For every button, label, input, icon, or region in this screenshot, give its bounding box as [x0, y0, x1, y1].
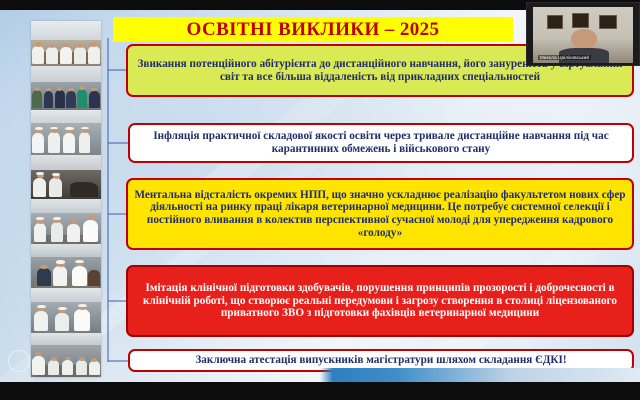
photo-meeting-table [31, 21, 101, 66]
photo-lab-work [31, 244, 101, 289]
slide-title-banner: ОСВІТНІ ВИКЛИКИ – 2025 [113, 17, 513, 42]
page-title: ОСВІТНІ ВИКЛИКИ – 2025 [187, 19, 440, 41]
participant-name-label: Микола Цвіліховський [538, 55, 591, 60]
slide-footer-band [0, 368, 640, 382]
wall-frame-icon [572, 13, 589, 29]
wall-frame-icon [599, 15, 617, 29]
challenge-box-5-text: Заключна атестація випускників магістрат… [195, 354, 566, 367]
challenge-box-2: Інфляція практичної складової якості осв… [128, 123, 634, 163]
challenge-box-4-text: Імітація клінічної підготовки здобувачів… [134, 282, 626, 320]
letterbox-bottom [0, 382, 640, 400]
photo-lab-bench [31, 199, 101, 244]
participant-head [571, 29, 597, 48]
photo-clinic-examination [31, 155, 101, 200]
wall-frame-icon [547, 15, 563, 30]
challenge-box-2-text: Інфляція практичної складової якості осв… [136, 130, 626, 155]
photo-consultation [31, 288, 101, 333]
photo-group-portrait [31, 66, 101, 111]
challenge-box-3-text: Ментальна відсталість окремих НПП, що зн… [134, 189, 626, 239]
challenge-box-3: Ментальна відсталість окремих НПП, що зн… [126, 178, 634, 250]
challenge-box-4: Імітація клінічної підготовки здобувачів… [126, 265, 634, 337]
screen-share-view: ОСВІТНІ ВИКЛИКИ – 2025 Звикання потенцій… [0, 0, 640, 400]
photo-strip [31, 21, 101, 377]
webcam-tile[interactable]: Микола Цвіліховський [526, 2, 640, 66]
webcam-video: Микола Цвіліховський [533, 7, 633, 63]
photo-students-lab [31, 110, 101, 155]
